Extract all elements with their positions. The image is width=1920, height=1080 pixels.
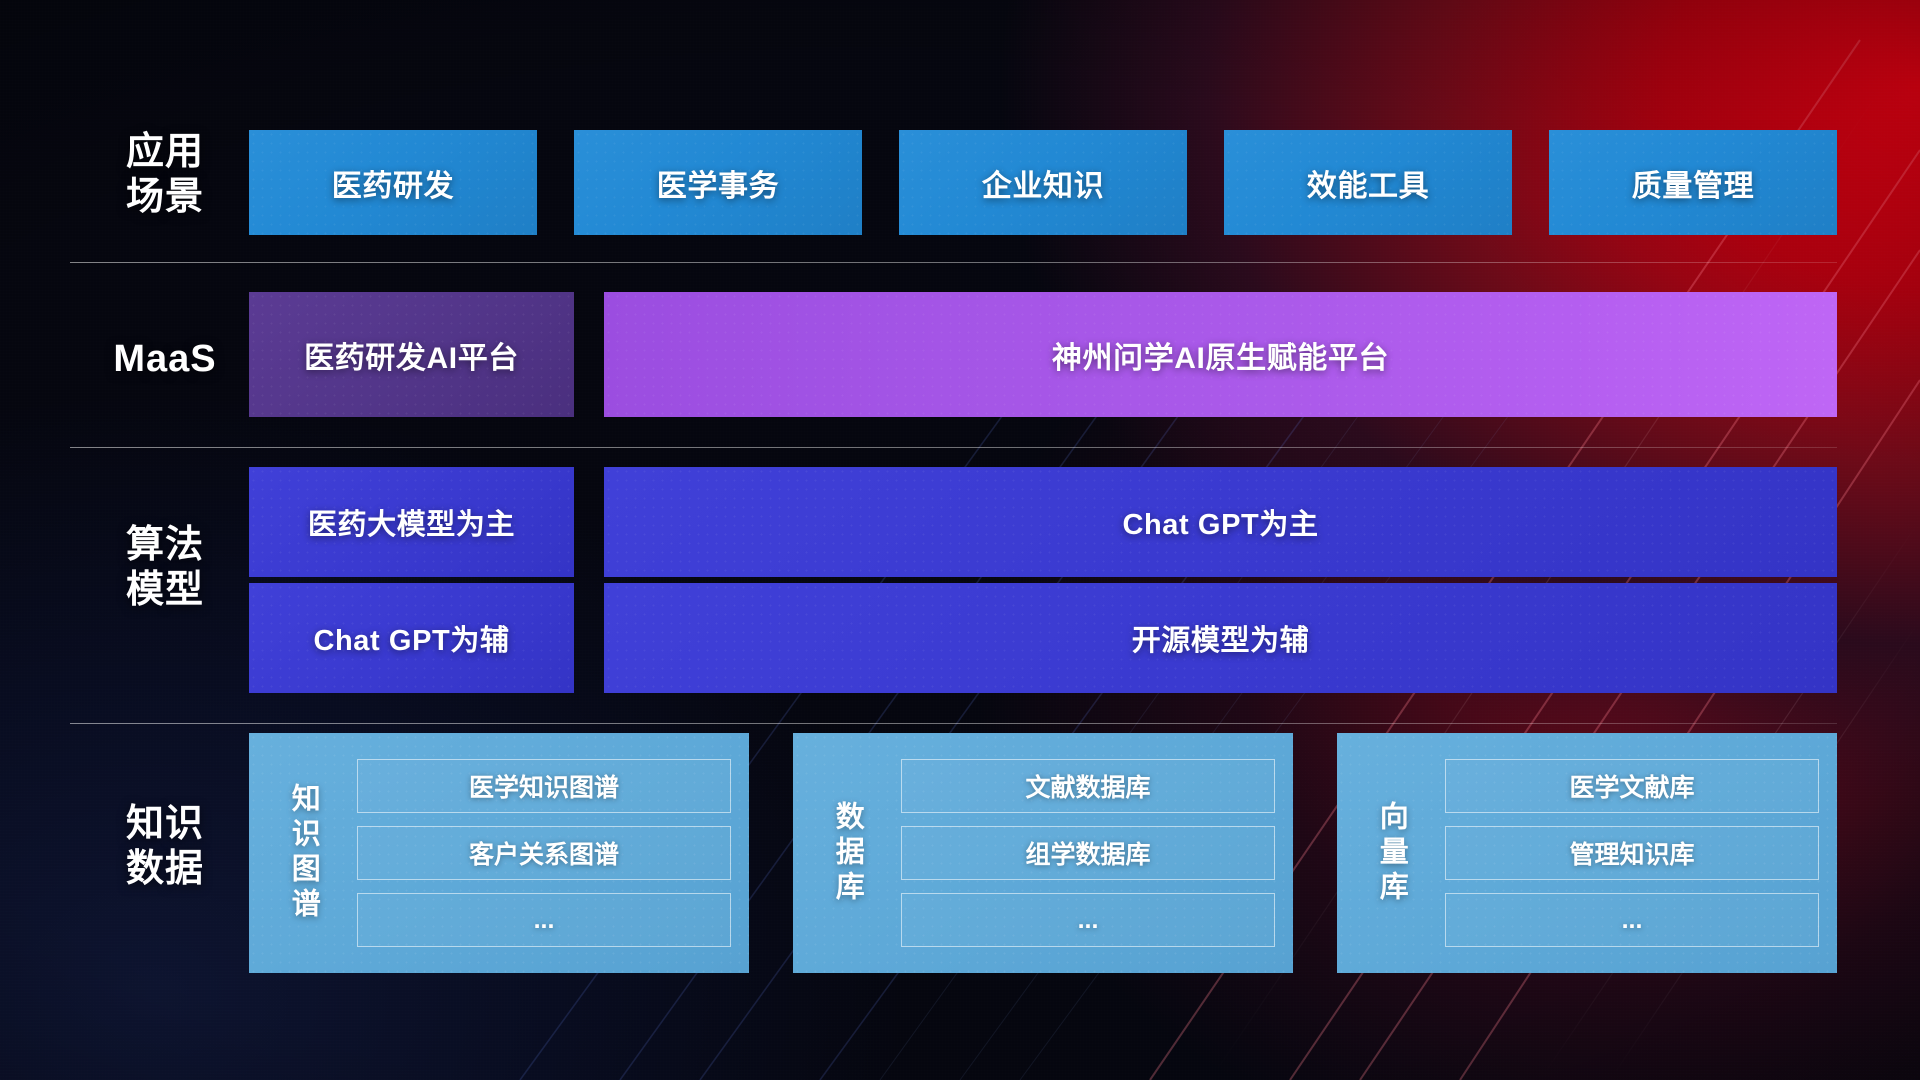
item-label: 组学数据库 (1025, 835, 1150, 871)
architecture-diagram: 应用 场景 医药研发 医学事务 企业知识 效能工具 质量管理 MaaS 医药研发… (0, 0, 1920, 1080)
block-label: 质量管理 (1632, 161, 1754, 205)
panel-title-knowledge-graph: 知识图谱 (249, 733, 357, 973)
block-maas-shenzhou-wenxue-platform[interactable]: 神州问学AI原生赋能平台 (604, 292, 1837, 417)
list-item[interactable]: ... (901, 893, 1275, 947)
block-label: 神州问学AI原生赋能平台 (1052, 333, 1389, 377)
panel-items-knowledge-graph: 医学知识图谱 客户关系图谱 ... (357, 733, 749, 973)
list-item[interactable]: 客户关系图谱 (357, 826, 731, 880)
block-application-medicine-rd[interactable]: 医药研发 (249, 130, 537, 235)
row-label-knowledge-data: 知识 数据 (95, 802, 235, 892)
block-label: Chat GPT为辅 (313, 617, 509, 659)
list-item[interactable]: 文献数据库 (901, 759, 1275, 813)
block-label: 医学事务 (657, 161, 779, 205)
list-item[interactable]: 医学文献库 (1445, 759, 1819, 813)
block-label: 医药大模型为主 (308, 501, 515, 543)
panel-knowledge-graph[interactable]: 知识图谱 医学知识图谱 客户关系图谱 ... (249, 733, 749, 973)
block-label: 医药研发 (332, 161, 454, 205)
item-label: ... (534, 906, 555, 935)
row-label-application-scenarios: 应用 场景 (95, 130, 235, 220)
item-label: 医学知识图谱 (469, 768, 619, 804)
item-label: 客户关系图谱 (469, 835, 619, 871)
block-application-efficiency-tools[interactable]: 效能工具 (1224, 130, 1512, 235)
divider-after-maas (70, 447, 1837, 448)
panel-items-database: 文献数据库 组学数据库 ... (901, 733, 1293, 973)
panel-items-vector-store: 医学文献库 管理知识库 ... (1445, 733, 1837, 973)
item-label: ... (1622, 906, 1643, 935)
block-application-quality-management[interactable]: 质量管理 (1549, 130, 1837, 235)
block-application-enterprise-knowledge[interactable]: 企业知识 (899, 130, 1187, 235)
list-item[interactable]: 医学知识图谱 (357, 759, 731, 813)
block-maas-medicine-ai-platform[interactable]: 医药研发AI平台 (249, 292, 574, 417)
item-label: 管理知识库 (1569, 835, 1694, 871)
block-algo-chatgpt-secondary[interactable]: Chat GPT为辅 (249, 583, 574, 693)
item-label: 文献数据库 (1025, 768, 1150, 804)
block-algo-open-source-secondary[interactable]: 开源模型为辅 (604, 583, 1837, 693)
row-label-maas: MaaS (85, 337, 245, 382)
item-label: 医学文献库 (1569, 768, 1694, 804)
item-label: ... (1078, 906, 1099, 935)
list-item[interactable]: ... (1445, 893, 1819, 947)
panel-database[interactable]: 数据库 文献数据库 组学数据库 ... (793, 733, 1293, 973)
row-label-algorithm-model: 算法 模型 (95, 523, 235, 613)
panel-title-database: 数据库 (793, 733, 901, 973)
list-item[interactable]: 组学数据库 (901, 826, 1275, 880)
list-item[interactable]: ... (357, 893, 731, 947)
panel-vector-store[interactable]: 向量库 医学文献库 管理知识库 ... (1337, 733, 1837, 973)
list-item[interactable]: 管理知识库 (1445, 826, 1819, 880)
block-application-medical-affairs[interactable]: 医学事务 (574, 130, 862, 235)
divider-after-algorithm-model (70, 723, 1837, 724)
block-label: 企业知识 (982, 161, 1104, 205)
block-algo-medicine-large-model-primary[interactable]: 医药大模型为主 (249, 467, 574, 577)
block-label: 医药研发AI平台 (304, 333, 519, 377)
block-label: 开源模型为辅 (1132, 617, 1310, 659)
block-algo-chatgpt-primary[interactable]: Chat GPT为主 (604, 467, 1837, 577)
block-label: 效能工具 (1307, 161, 1429, 205)
divider-after-application-scenarios (70, 262, 1837, 263)
block-label: Chat GPT为主 (1122, 501, 1318, 543)
panel-title-vector-store: 向量库 (1337, 733, 1445, 973)
